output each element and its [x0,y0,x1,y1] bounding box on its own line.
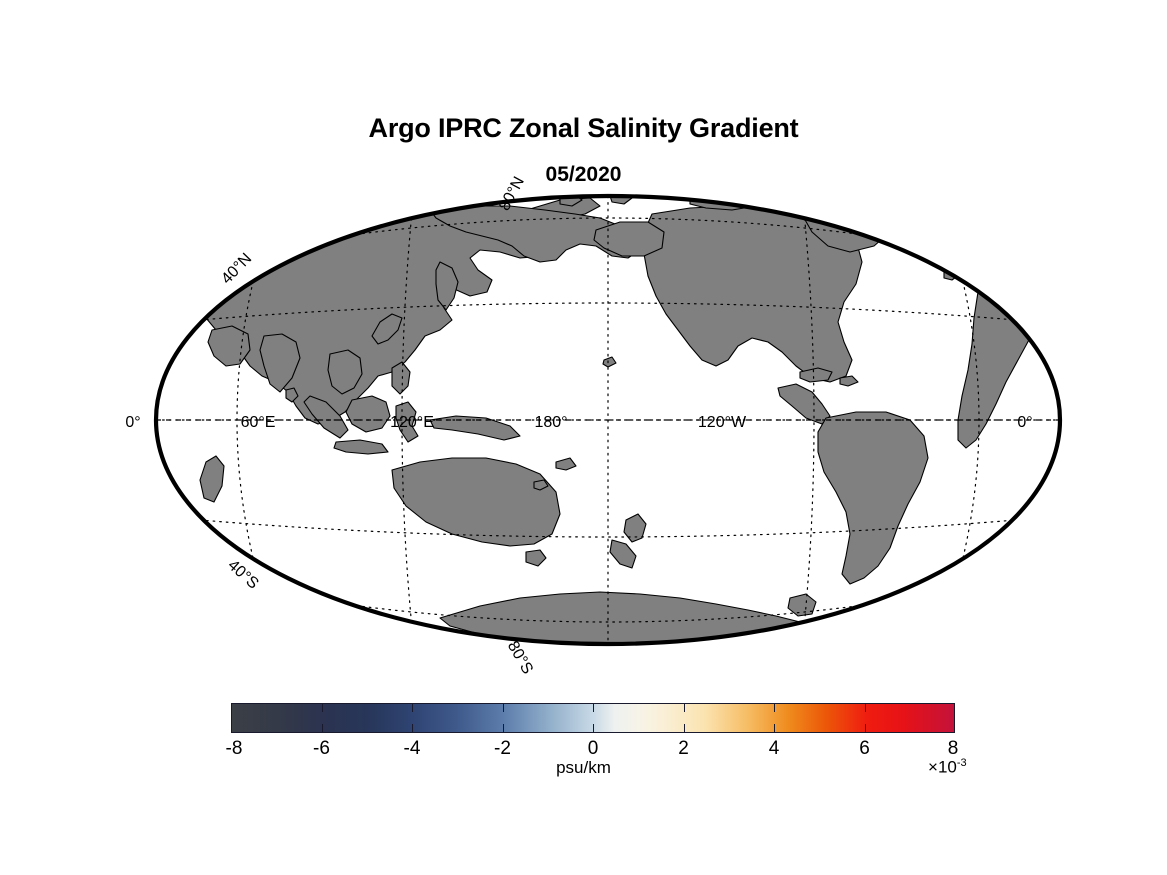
colorbar-unit-label: psu/km [0,758,1167,778]
colorbar[interactable] [231,703,955,733]
lon-label-180: 180° [534,414,567,431]
colorbar-tick [684,703,685,712]
colorbar-tick [593,724,594,733]
world-map-svg[interactable]: 80°N 40°N 0° 40°S 80°S 60°E 120°E 180° 1… [0,0,1167,700]
exponent-power: -3 [957,757,967,769]
lon-label-0: 0° [1017,414,1032,431]
exponent-prefix: × [928,758,938,777]
lon-label-120w: 120°W [698,414,747,431]
colorbar-tick [774,724,775,733]
colorbar-exponent-label: ×10-3 [928,757,967,778]
colorbar-tick-label: -6 [313,738,330,760]
colorbar-tick [865,724,866,733]
colorbar-tick [412,703,413,712]
colorbar-tick-label: -4 [404,738,421,760]
lon-label-60e: 60°E [241,414,276,431]
colorbar-tick-label: 6 [859,738,870,760]
lat-label-equator-left: 0° [125,414,140,431]
colorbar-tick [684,724,685,733]
colorbar-tick-label: -2 [494,738,511,760]
colorbar-tick [503,724,504,733]
colorbar-tick [322,703,323,712]
lat-label-80s: 80°S [504,638,536,677]
colorbar-tick [774,703,775,712]
colorbar-tick [593,703,594,712]
colorbar-tick-label: 2 [678,738,689,760]
map-plot-area[interactable]: 80°N 40°N 0° 40°S 80°S 60°E 120°E 180° 1… [0,0,1167,700]
figure-canvas: Argo IPRC Zonal Salinity Gradient 05/202… [0,0,1167,875]
colorbar-tick-label: 0 [588,738,599,760]
colorbar-tick-label: -8 [226,738,243,760]
colorbar-tick [322,724,323,733]
colorbar-tick [412,724,413,733]
colorbar-tick [865,703,866,712]
land-europe-right-limb [930,228,996,262]
colorbar-tick [503,703,504,712]
exponent-base: 10 [938,758,957,777]
colorbar-tick-label: 4 [769,738,780,760]
lon-label-120e: 120°E [390,414,434,431]
